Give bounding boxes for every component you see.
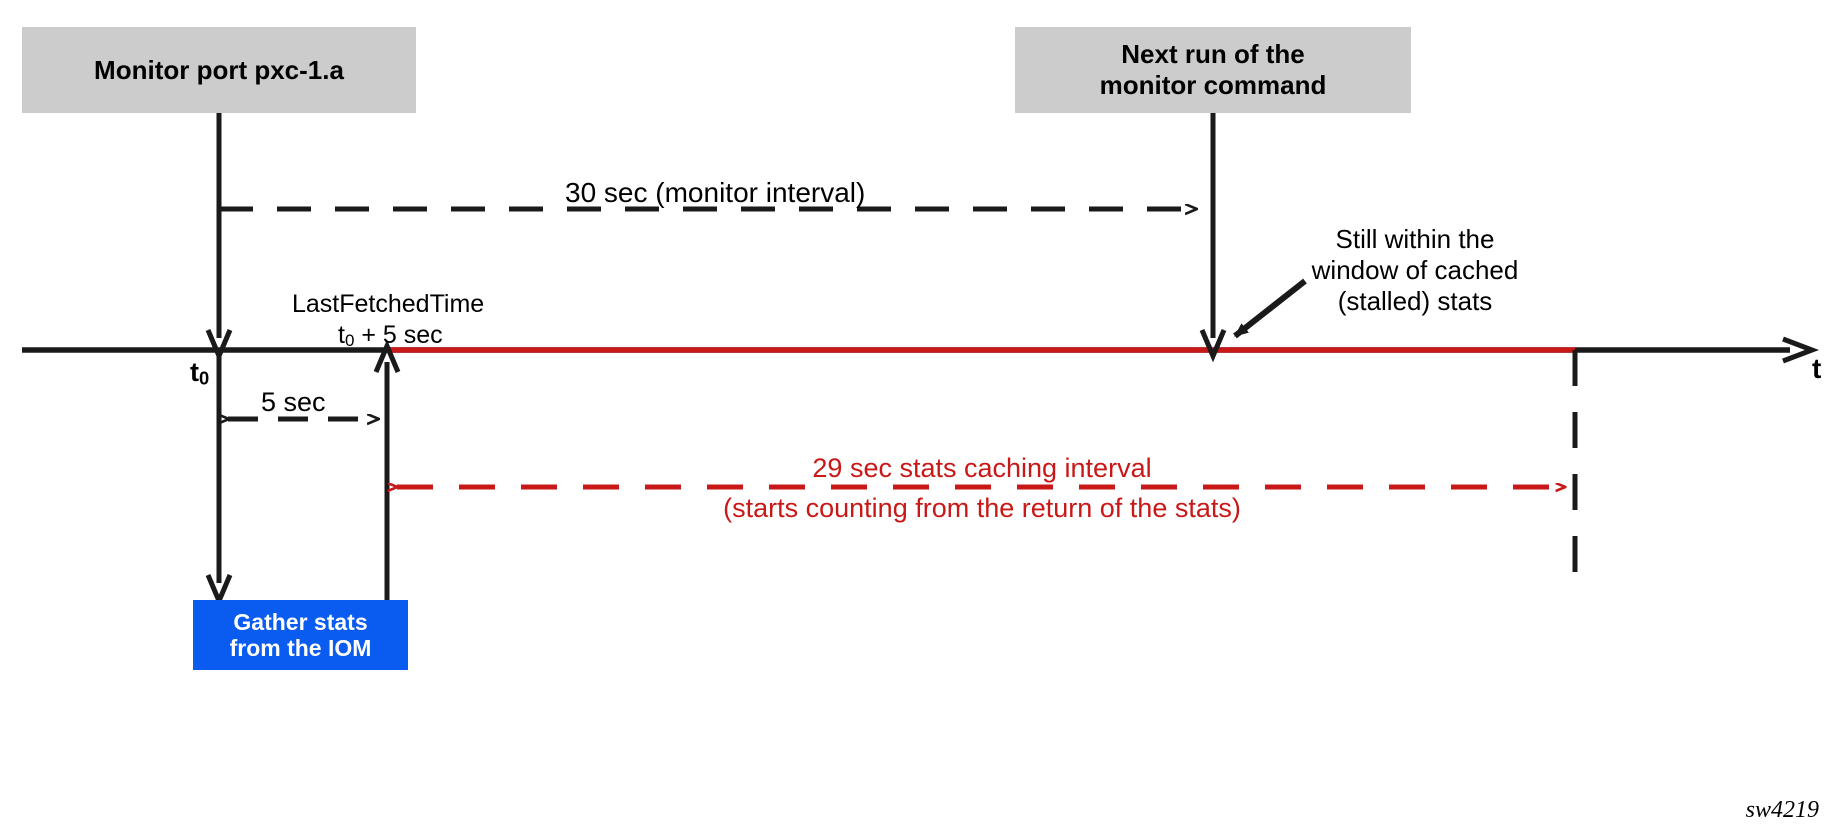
label-last-fetched-value-prefix: t	[338, 321, 345, 349]
label-t-zero-prefix: t	[190, 357, 199, 387]
figure-id-code: sw4219	[1746, 797, 1819, 824]
label-caching-interval: 29 sec stats caching interval	[582, 452, 1382, 484]
t0-to-gather-stats-line	[208, 350, 230, 601]
box-gather-stats-label-line1: Gather stats	[233, 609, 367, 635]
label-time-axis: t	[1812, 352, 1821, 386]
timing-diagram-svg	[0, 0, 1837, 838]
label-t-zero-sub: 0	[199, 367, 209, 388]
label-caching-interval-line2: (starts counting from the return of the …	[582, 492, 1382, 524]
label-still-within-window-line1: Still within the	[1291, 224, 1539, 255]
label-five-sec: 5 sec	[261, 386, 326, 418]
monitor-port-droplineblock	[208, 113, 230, 356]
box-gather-stats-label-line2: from the IOM	[230, 635, 372, 661]
next-run-dropline	[1202, 113, 1224, 356]
label-last-fetched-value-suffix: + 5 sec	[354, 321, 442, 349]
box-monitor-port[interactable]: Monitor port pxc-1.a	[22, 27, 416, 113]
box-next-run[interactable]: Next run of the monitor command	[1015, 27, 1411, 113]
label-last-fetched-value-sub: 0	[345, 331, 354, 350]
label-still-within-window: Still within the window of cached (stall…	[1291, 224, 1539, 318]
label-still-within-window-line3: (stalled) stats	[1291, 286, 1539, 317]
box-next-run-label-line2: monitor command	[1100, 70, 1327, 101]
label-last-fetched-time: LastFetchedTime	[292, 289, 484, 319]
lastfetchedtime-return-arrow	[376, 346, 398, 600]
label-t-zero: t0	[190, 356, 209, 389]
label-caching-interval-line1: 29 sec stats caching interval	[582, 452, 1382, 484]
label-caching-interval-note: (starts counting from the return of the …	[582, 492, 1382, 524]
label-monitor-interval: 30 sec (monitor interval)	[565, 176, 865, 210]
box-monitor-port-label: Monitor port pxc-1.a	[94, 55, 344, 86]
label-last-fetched-value: t0 + 5 sec	[338, 320, 443, 351]
label-still-within-window-line2: window of cached	[1291, 255, 1539, 286]
box-gather-stats[interactable]: Gather stats from the IOM	[193, 600, 408, 670]
figure-canvas: Monitor port pxc-1.a Next run of the mon…	[0, 0, 1837, 838]
box-next-run-label-line1: Next run of the	[1121, 39, 1304, 70]
